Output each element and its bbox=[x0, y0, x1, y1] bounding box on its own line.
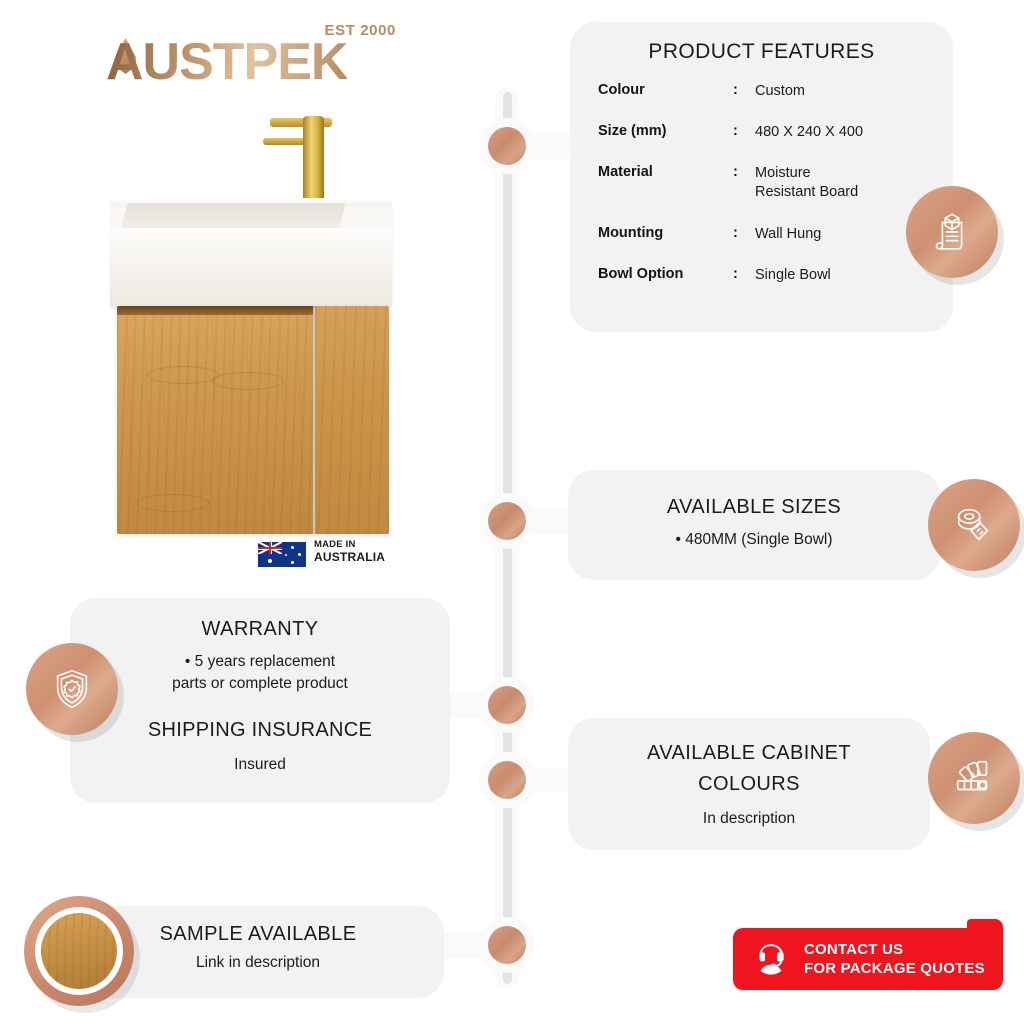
measuring-tape-icon bbox=[928, 479, 1020, 571]
basin-front bbox=[110, 228, 392, 308]
spec-separator: : bbox=[733, 225, 755, 241]
connector-node-colours bbox=[479, 752, 535, 808]
product-image bbox=[105, 110, 395, 535]
shield-badge-icon bbox=[26, 643, 118, 735]
available-sizes-panel: AVAILABLE SIZES • 480MM (Single Bowl) bbox=[568, 470, 940, 580]
spec-row-colour: Colour : Custom bbox=[598, 82, 805, 101]
warranty-item-line2: parts or complete product bbox=[70, 673, 450, 695]
spec-key: Mounting bbox=[598, 225, 733, 241]
connector-node-sizes bbox=[479, 493, 535, 549]
product-features-title: PRODUCT FEATURES bbox=[570, 40, 953, 64]
cabinet-top-reveal bbox=[117, 306, 313, 315]
spec-key: Bowl Option bbox=[598, 266, 733, 282]
cabinet-door bbox=[117, 306, 313, 534]
colour-swatch-fan-icon bbox=[928, 732, 1020, 824]
australia-flag-icon bbox=[258, 542, 306, 567]
contact-us-banner[interactable]: CONTACT US FOR PACKAGE QUOTES bbox=[733, 928, 1003, 990]
infographic-canvas: EST 2000 AUSTPEK bbox=[0, 0, 1024, 1024]
warranty-title: WARRANTY bbox=[70, 618, 450, 641]
spec-row-mounting: Mounting : Wall Hung bbox=[598, 225, 821, 244]
spec-row-size: Size (mm) : 480 X 240 X 400 bbox=[598, 123, 863, 142]
made-in-label: MADE IN AUSTRALIA bbox=[314, 538, 385, 564]
connector-node-features bbox=[479, 118, 535, 174]
spec-value: 480 X 240 X 400 bbox=[755, 123, 863, 142]
spec-value: Custom bbox=[755, 82, 805, 101]
available-sizes-title: AVAILABLE SIZES bbox=[568, 496, 940, 519]
shipping-insurance-value: Insured bbox=[70, 756, 450, 774]
available-sizes-item: • 480MM (Single Bowl) bbox=[568, 531, 940, 549]
cabinet bbox=[117, 306, 389, 534]
cabinet-colours-value: In description bbox=[568, 810, 930, 828]
brand-logo: EST 2000 AUSTPEK bbox=[100, 18, 400, 98]
tap-body bbox=[303, 116, 324, 208]
contact-us-line2: FOR PACKAGE QUOTES bbox=[804, 959, 985, 978]
spec-value: Single Bowl bbox=[755, 266, 831, 285]
warranty-item: • 5 years replacement parts or complete … bbox=[70, 651, 450, 695]
spec-value: Wall Hung bbox=[755, 225, 821, 244]
basin-bowl bbox=[121, 203, 346, 231]
spec-separator: : bbox=[733, 164, 755, 180]
product-features-panel: PRODUCT FEATURES Colour : Custom Size (m… bbox=[570, 22, 953, 332]
wood-sample-icon bbox=[24, 896, 134, 1006]
basin bbox=[110, 198, 392, 308]
spec-key: Material bbox=[598, 164, 733, 180]
contact-us-line1: CONTACT US bbox=[804, 940, 985, 959]
spec-value: Moisture Resistant Board bbox=[755, 164, 858, 202]
made-in-line2: AUSTRALIA bbox=[314, 551, 385, 564]
warranty-panel: WARRANTY • 5 years replacement parts or … bbox=[70, 598, 450, 803]
contact-us-text: CONTACT US FOR PACKAGE QUOTES bbox=[804, 940, 985, 978]
made-in-line1: MADE IN bbox=[314, 539, 356, 550]
cabinet-colours-panel: AVAILABLE CABINET COLOURS In description bbox=[568, 718, 930, 850]
cabinet-colours-title-line1: AVAILABLE CABINET bbox=[568, 738, 930, 769]
spec-separator: : bbox=[733, 266, 755, 282]
shipping-insurance-title: SHIPPING INSURANCE bbox=[70, 719, 450, 742]
spec-key: Colour bbox=[598, 82, 733, 98]
connector-node-warranty bbox=[479, 677, 535, 733]
spec-row-bowl-option: Bowl Option : Single Bowl bbox=[598, 266, 831, 285]
spec-separator: : bbox=[733, 82, 755, 98]
brand-name: AUSTPEK bbox=[106, 36, 347, 88]
made-in-australia-badge: MADE IN AUSTRALIA bbox=[258, 538, 388, 576]
clipboard-box-icon bbox=[906, 186, 998, 278]
spec-separator: : bbox=[733, 123, 755, 139]
wood-sample-swatch bbox=[41, 913, 117, 989]
support-headset-icon bbox=[750, 938, 792, 980]
wood-sample-ring bbox=[35, 907, 123, 995]
warranty-item-line1: • 5 years replacement bbox=[70, 651, 450, 673]
cabinet-colours-title-line2: COLOURS bbox=[568, 769, 930, 800]
spec-key: Size (mm) bbox=[598, 123, 733, 139]
connector-node-sample bbox=[479, 917, 535, 973]
cabinet-side-panel bbox=[315, 306, 389, 534]
spec-row-material: Material : Moisture Resistant Board bbox=[598, 164, 858, 202]
